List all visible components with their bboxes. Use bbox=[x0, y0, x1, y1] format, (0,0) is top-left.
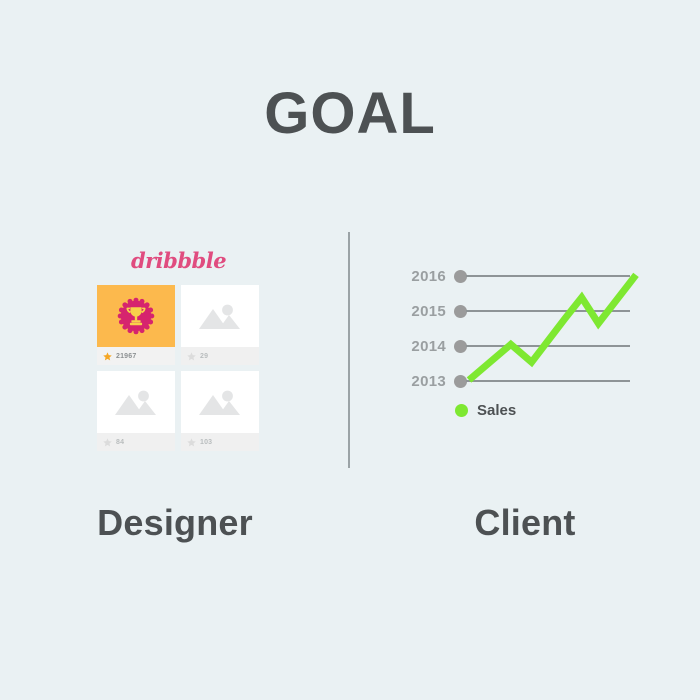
star-icon bbox=[187, 352, 196, 361]
chart-tick-label: 2015 bbox=[400, 304, 446, 319]
chart-gridline bbox=[466, 310, 630, 312]
chart-tick-label: 2014 bbox=[400, 339, 446, 354]
legend-label: Sales bbox=[477, 403, 516, 418]
shot-count: 21967 bbox=[116, 353, 136, 360]
page-title: GOAL bbox=[0, 85, 700, 143]
shot-meta: 29 bbox=[181, 347, 259, 365]
shot-thumbnail[interactable] bbox=[181, 371, 259, 433]
star-icon bbox=[187, 438, 196, 447]
image-placeholder-icon bbox=[113, 385, 159, 419]
trophy-badge-icon bbox=[116, 296, 156, 336]
shot-count: 29 bbox=[200, 353, 208, 360]
caption-designer: Designer bbox=[60, 505, 290, 541]
shot-meta: 103 bbox=[181, 433, 259, 451]
caption-client: Client bbox=[420, 505, 630, 541]
star-icon bbox=[103, 438, 112, 447]
chart-gridline bbox=[466, 345, 630, 347]
sales-line-chart: 2016 2015 2014 2013 bbox=[400, 268, 645, 428]
star-icon bbox=[103, 352, 112, 361]
chart-row-2015: 2015 bbox=[400, 303, 630, 319]
legend-color-dot bbox=[455, 404, 468, 417]
chart-tick-label: 2013 bbox=[400, 374, 446, 389]
shot-meta: 84 bbox=[97, 433, 175, 451]
chart-row-2016: 2016 bbox=[400, 268, 630, 284]
chart-gridline bbox=[466, 380, 630, 382]
chart-tick-label: 2016 bbox=[400, 269, 446, 284]
chart-gridline bbox=[466, 275, 630, 277]
chart-row-2014: 2014 bbox=[400, 338, 630, 354]
dribbble-wordmark: dribbble bbox=[96, 250, 261, 271]
image-placeholder-icon bbox=[197, 299, 243, 333]
shot-thumbnail[interactable] bbox=[97, 371, 175, 433]
shot-card[interactable]: 29 bbox=[181, 285, 259, 365]
image-placeholder-icon bbox=[197, 385, 243, 419]
vertical-divider bbox=[348, 232, 350, 468]
shot-card[interactable]: 84 bbox=[97, 371, 175, 451]
shot-thumbnail[interactable] bbox=[181, 285, 259, 347]
shot-card[interactable]: 21967 bbox=[97, 285, 175, 365]
poster-canvas: GOAL dribbble bbox=[0, 0, 700, 700]
chart-row-2013: 2013 bbox=[400, 373, 630, 389]
shot-thumbnail[interactable] bbox=[97, 285, 175, 347]
shot-grid: 21967 29 bbox=[97, 285, 259, 451]
shot-meta: 21967 bbox=[97, 347, 175, 365]
chart-legend: Sales bbox=[455, 403, 516, 418]
shot-card[interactable]: 103 bbox=[181, 371, 259, 451]
shot-count: 103 bbox=[200, 439, 212, 446]
shot-count: 84 bbox=[116, 439, 124, 446]
